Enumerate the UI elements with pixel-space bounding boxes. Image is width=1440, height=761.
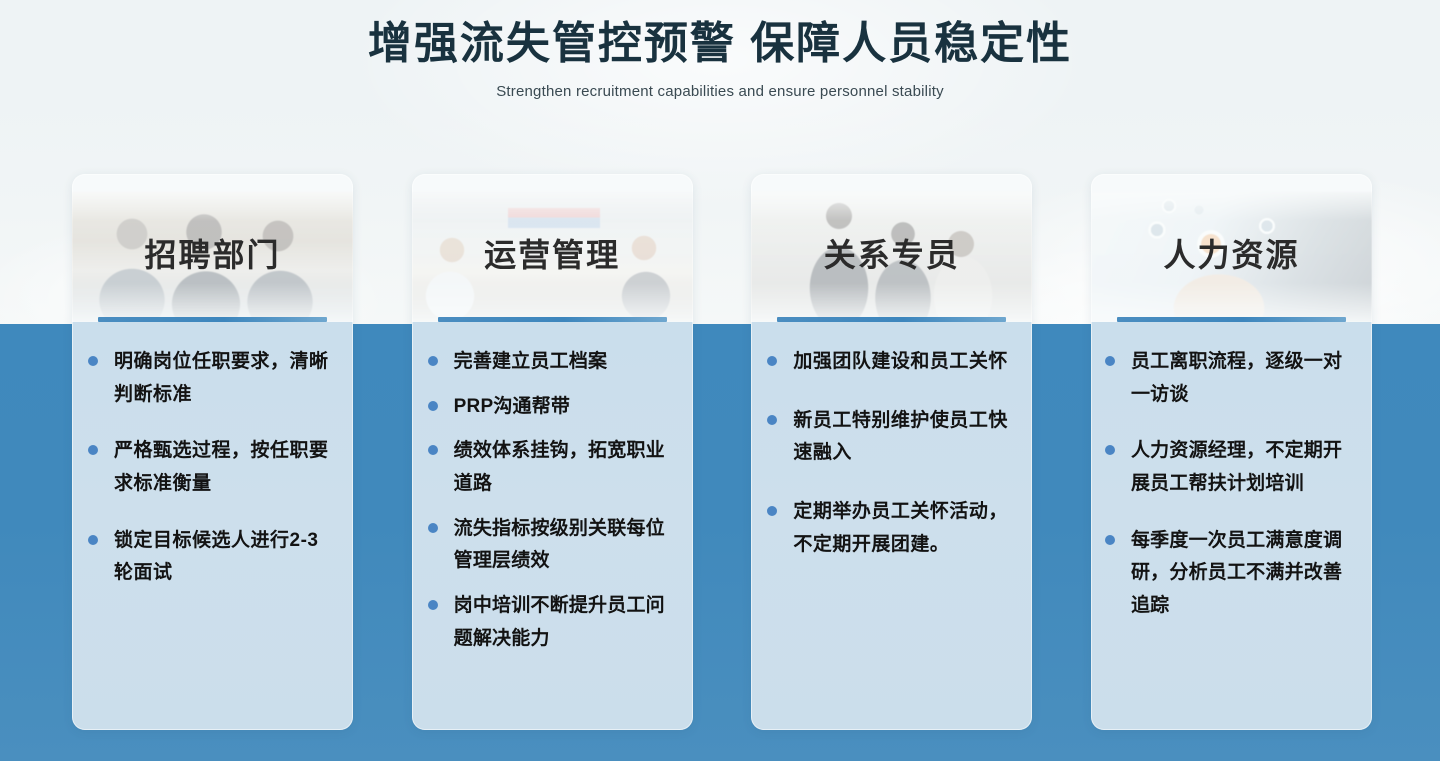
bullet-text: 严格甄选过程，按任职要求标准衡量 bbox=[114, 435, 333, 500]
bullet-text: 员工离职流程，逐级一对一访谈 bbox=[1131, 346, 1360, 411]
list-item: 加强团队建设和员工关怀 bbox=[767, 346, 1012, 379]
card-relations-specialist[interactable]: 关系专员 加强团队建设和员工关怀 新员工特别维护使员工快速融入 定期举办员工 bbox=[751, 174, 1032, 730]
card-header: 关系专员 bbox=[751, 174, 1032, 322]
bullet-dot-icon bbox=[428, 356, 438, 366]
card-body: 加强团队建设和员工关怀 新员工特别维护使员工快速融入 定期举办员工关怀活动，不定… bbox=[751, 322, 1032, 730]
bullet-text: 完善建立员工档案 bbox=[454, 346, 608, 379]
bullet-text: 新员工特别维护使员工快速融入 bbox=[793, 405, 1012, 470]
list-item: 严格甄选过程，按任职要求标准衡量 bbox=[88, 435, 333, 500]
accent-bar bbox=[777, 317, 1006, 322]
bullet-dot-icon bbox=[767, 506, 777, 516]
card-title: 关系专员 bbox=[751, 230, 1032, 276]
list-item: 流失指标按级别关联每位管理层绩效 bbox=[428, 513, 673, 578]
card-title: 招聘部门 bbox=[72, 230, 353, 276]
list-item: 绩效体系挂钩，拓宽职业道路 bbox=[428, 435, 673, 500]
bullet-dot-icon bbox=[88, 445, 98, 455]
page-title: 增强流失管控预警 保障人员稳定性 bbox=[0, 16, 1440, 71]
card-body: 完善建立员工档案 PRP沟通帮带 绩效体系挂钩，拓宽职业道路 流失指标按级别关联… bbox=[412, 322, 693, 730]
accent-bar bbox=[1117, 317, 1346, 322]
bullet-text: 岗中培训不断提升员工问题解决能力 bbox=[454, 590, 673, 655]
card-row: 招聘部门 明确岗位任职要求，清晰判断标准 严格甄选过程，按任职要求标准衡量 bbox=[72, 174, 1372, 730]
card-title: 人力资源 bbox=[1091, 230, 1372, 276]
bullet-dot-icon bbox=[1105, 445, 1115, 455]
bullet-text: 加强团队建设和员工关怀 bbox=[793, 346, 1008, 379]
bullet-dot-icon bbox=[1105, 535, 1115, 545]
bullet-text: 锁定目标候选人进行2-3轮面试 bbox=[114, 525, 333, 590]
bullet-dot-icon bbox=[88, 535, 98, 545]
bullet-list: 加强团队建设和员工关怀 新员工特别维护使员工快速融入 定期举办员工关怀活动，不定… bbox=[767, 346, 1012, 561]
list-item: PRP沟通帮带 bbox=[428, 391, 673, 424]
bullet-dot-icon bbox=[88, 356, 98, 366]
bullet-text: PRP沟通帮带 bbox=[454, 391, 570, 424]
bullet-dot-icon bbox=[428, 401, 438, 411]
card-operations-management[interactable]: 运营管理 完善建立员工档案 PRP沟通帮带 绩效体系挂钩，拓宽职业道路 bbox=[412, 174, 693, 730]
bullet-text: 每季度一次员工满意度调研，分析员工不满并改善追踪 bbox=[1131, 525, 1360, 623]
bullet-text: 定期举办员工关怀活动，不定期开展团建。 bbox=[793, 496, 1012, 561]
bullet-dot-icon bbox=[428, 445, 438, 455]
list-item: 员工离职流程，逐级一对一访谈 bbox=[1105, 346, 1360, 411]
card-body: 员工离职流程，逐级一对一访谈 人力资源经理，不定期开展员工帮扶计划培训 每季度一… bbox=[1091, 322, 1372, 730]
list-item: 明确岗位任职要求，清晰判断标准 bbox=[88, 346, 333, 411]
card-header: 运营管理 bbox=[412, 174, 693, 322]
card-human-resources[interactable]: 人力资源 员工离职流程，逐级一对一访谈 人力资源经理，不定期开展员工帮扶计划培训 bbox=[1091, 174, 1372, 730]
list-item: 新员工特别维护使员工快速融入 bbox=[767, 405, 1012, 470]
bullet-dot-icon bbox=[1105, 356, 1115, 366]
bullet-list: 员工离职流程，逐级一对一访谈 人力资源经理，不定期开展员工帮扶计划培训 每季度一… bbox=[1105, 346, 1360, 623]
page-header: 增强流失管控预警 保障人员稳定性 Strengthen recruitment … bbox=[0, 0, 1440, 100]
bullet-dot-icon bbox=[428, 523, 438, 533]
list-item: 定期举办员工关怀活动，不定期开展团建。 bbox=[767, 496, 1012, 561]
accent-bar bbox=[438, 317, 667, 322]
bullet-text: 明确岗位任职要求，清晰判断标准 bbox=[114, 346, 333, 411]
bullet-text: 流失指标按级别关联每位管理层绩效 bbox=[454, 513, 673, 578]
bullet-text: 人力资源经理，不定期开展员工帮扶计划培训 bbox=[1131, 435, 1360, 500]
card-header: 招聘部门 bbox=[72, 174, 353, 322]
bullet-text: 绩效体系挂钩，拓宽职业道路 bbox=[454, 435, 673, 500]
accent-bar bbox=[98, 317, 327, 322]
bullet-list: 明确岗位任职要求，清晰判断标准 严格甄选过程，按任职要求标准衡量 锁定目标候选人… bbox=[88, 346, 333, 590]
list-item: 每季度一次员工满意度调研，分析员工不满并改善追踪 bbox=[1105, 525, 1360, 623]
card-header: 人力资源 bbox=[1091, 174, 1372, 322]
card-recruitment-department[interactable]: 招聘部门 明确岗位任职要求，清晰判断标准 严格甄选过程，按任职要求标准衡量 bbox=[72, 174, 353, 730]
card-title: 运营管理 bbox=[412, 230, 693, 276]
list-item: 岗中培训不断提升员工问题解决能力 bbox=[428, 590, 673, 655]
bullet-dot-icon bbox=[767, 356, 777, 366]
bullet-list: 完善建立员工档案 PRP沟通帮带 绩效体系挂钩，拓宽职业道路 流失指标按级别关联… bbox=[428, 346, 673, 655]
list-item: 人力资源经理，不定期开展员工帮扶计划培训 bbox=[1105, 435, 1360, 500]
infographic-page: 增强流失管控预警 保障人员稳定性 Strengthen recruitment … bbox=[0, 0, 1440, 761]
bullet-dot-icon bbox=[428, 600, 438, 610]
page-subtitle: Strengthen recruitment capabilities and … bbox=[0, 83, 1440, 100]
list-item: 锁定目标候选人进行2-3轮面试 bbox=[88, 525, 333, 590]
card-body: 明确岗位任职要求，清晰判断标准 严格甄选过程，按任职要求标准衡量 锁定目标候选人… bbox=[72, 322, 353, 730]
list-item: 完善建立员工档案 bbox=[428, 346, 673, 379]
bullet-dot-icon bbox=[767, 415, 777, 425]
